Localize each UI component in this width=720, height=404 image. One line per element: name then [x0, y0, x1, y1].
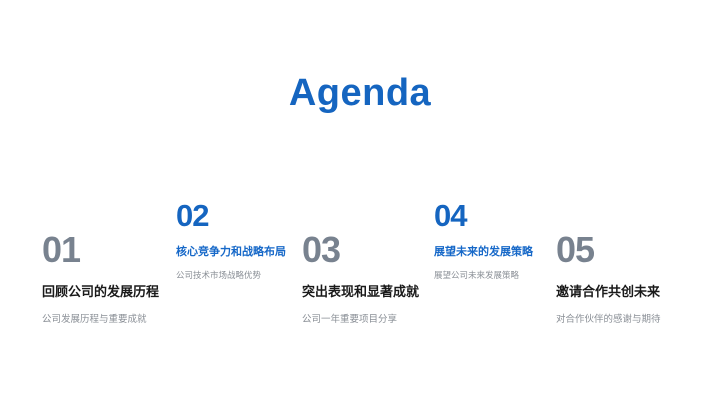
agenda-slide: Agenda 01 回顾公司的发展历程 公司发展历程与重要成就 02 核心竞争力… — [0, 0, 720, 404]
agenda-item-subtitle: 对合作伙伴的感谢与期待 — [556, 311, 661, 325]
agenda-item-number: 04 — [434, 200, 533, 231]
agenda-item-number: 01 — [42, 232, 159, 268]
agenda-item-05[interactable]: 05 邀请合作共创未来 对合作伙伴的感谢与期待 — [556, 232, 661, 325]
agenda-item-01[interactable]: 01 回顾公司的发展历程 公司发展历程与重要成就 — [42, 232, 159, 325]
agenda-item-title: 邀请合作共创未来 — [556, 281, 661, 300]
agenda-item-title: 核心竞争力和战略布局 — [176, 243, 286, 259]
agenda-item-number: 03 — [302, 232, 419, 268]
agenda-item-subtitle: 公司技术市场战略优势 — [176, 269, 286, 281]
agenda-item-02[interactable]: 02 核心竞争力和战略布局 公司技术市场战略优势 — [176, 200, 286, 281]
agenda-item-subtitle: 展望公司未来发展策略 — [434, 269, 533, 281]
agenda-item-number: 05 — [556, 232, 661, 268]
agenda-item-subtitle: 公司一年重要项目分享 — [302, 311, 419, 325]
agenda-item-title: 展望未来的发展策略 — [434, 243, 533, 259]
agenda-item-03[interactable]: 03 突出表现和显著成就 公司一年重要项目分享 — [302, 232, 419, 325]
agenda-item-number: 02 — [176, 200, 286, 231]
agenda-item-title: 突出表现和显著成就 — [302, 281, 419, 300]
agenda-item-04[interactable]: 04 展望未来的发展策略 展望公司未来发展策略 — [434, 200, 533, 281]
page-title: Agenda — [0, 70, 720, 116]
agenda-item-title: 回顾公司的发展历程 — [42, 281, 159, 300]
agenda-item-subtitle: 公司发展历程与重要成就 — [42, 311, 159, 325]
